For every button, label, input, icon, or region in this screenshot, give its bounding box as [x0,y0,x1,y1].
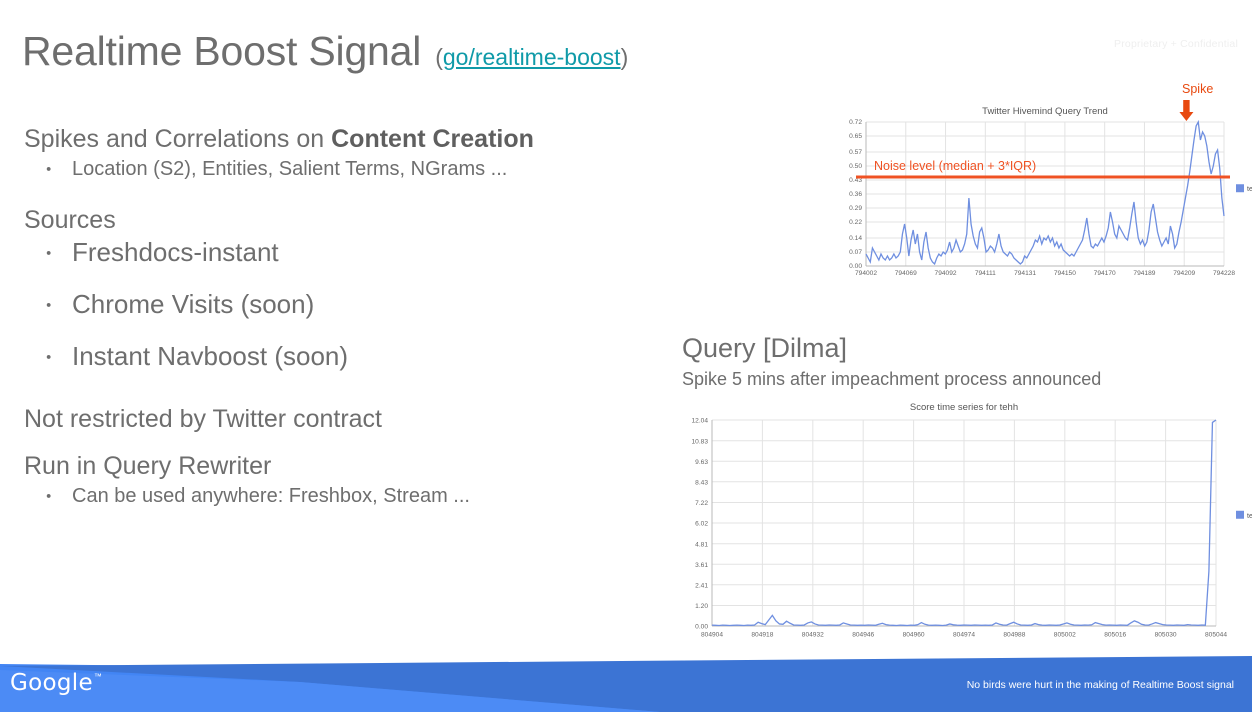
heading-spikes-prefix: Spikes and Correlations on [24,125,331,153]
heading-run-query-rewriter: Run in Query Rewriter [24,453,684,481]
y-axis-tick-label: 0.36 [849,191,862,198]
y-axis-tick-label: 0.65 [849,133,862,140]
y-axis-tick-label: 0.00 [695,624,708,631]
legend-swatch [1236,511,1244,519]
legend-label: teh [1247,186,1252,193]
spike-arrow-icon [1179,100,1193,121]
confidential-watermark: Proprietary + Confidential [1114,38,1238,50]
legend-label: te [1247,513,1252,520]
list-item: Instant Navboost (soon) [24,342,684,372]
y-axis-tick-label: 7.22 [695,500,708,507]
x-axis-tick-label: 804918 [751,632,773,639]
y-axis-tick-label: 8.43 [695,479,708,486]
slide: Proprietary + Confidential Realtime Boos… [0,0,1252,712]
x-axis-tick-label: 805030 [1155,632,1177,639]
chart-title: Twitter Hivemind Query Trend [982,106,1108,117]
list-item: Location (S2), Entities, Salient Terms, … [24,158,684,181]
y-axis-tick-label: 1.20 [695,603,708,610]
heading-spikes-bold: Content Creation [331,125,534,153]
y-axis-tick-label: 0.57 [849,149,862,156]
y-axis-tick-label: 6.02 [695,521,708,528]
chart-bottom-svg: Score time series for tehh0.001.202.413.… [676,394,1252,652]
paren-close: ) [621,44,629,70]
y-axis-tick-label: 9.63 [695,459,708,466]
y-axis-tick-label: 0.07 [849,249,862,256]
chart-title: Score time series for tehh [910,402,1018,413]
noise-level-label: Noise level (median + 3*IQR) [874,159,1036,173]
x-axis-tick-label: 794150 [1054,270,1076,277]
x-axis-tick-label: 794189 [1133,270,1155,277]
trademark-icon: ™ [94,672,102,681]
x-axis-tick-label: 805044 [1205,632,1227,639]
x-axis-tick-label: 805002 [1054,632,1076,639]
query-section-subtitle: Spike 5 mins after impeachment process a… [682,369,1101,390]
google-logo-text: Google [10,670,93,696]
y-axis-tick-label: 0.29 [849,205,862,212]
chart-twitter-hivemind-query-trend: Twitter Hivemind Query Trend0.000.070.14… [836,92,1252,288]
x-axis-tick-label: 794111 [975,270,996,277]
chart-top-svg: Twitter Hivemind Query Trend0.000.070.14… [836,92,1252,288]
x-axis-tick-label: 794170 [1094,270,1116,277]
bullet-list-content-creation: Location (S2), Entities, Salient Terms, … [24,158,684,181]
y-axis-tick-label: 2.41 [695,582,708,589]
x-axis-tick-label: 794069 [895,270,917,277]
data-series-line [866,122,1224,264]
x-axis-tick-label: 804988 [1003,632,1025,639]
list-item: Freshdocs-instant [24,238,684,268]
x-axis-tick-label: 794002 [855,270,877,277]
x-axis-tick-label: 794092 [935,270,957,277]
google-logo: Google ™ [10,670,102,696]
heading-spikes-correlations: Spikes and Correlations on Content Creat… [24,126,684,154]
heading-not-restricted: Not restricted by Twitter contract [24,406,684,434]
list-item: Chrome Visits (soon) [24,290,684,320]
x-axis-tick-label: 804946 [852,632,874,639]
title-link-group: (go/realtime-boost) [435,44,628,71]
y-axis-tick-label: 10.83 [691,438,708,445]
page-title: Realtime Boost Signal (go/realtime-boost… [22,28,628,75]
bullet-list-sources: Freshdocs-instant Chrome Visits (soon) I… [24,238,684,372]
chart-score-time-series: Score time series for tehh0.001.202.413.… [676,394,1252,652]
y-axis-tick-label: 0.22 [849,219,862,226]
y-axis-tick-label: 0.14 [849,235,862,242]
x-axis-tick-label: 794131 [1014,270,1036,277]
x-axis-tick-label: 794228 [1213,270,1235,277]
query-section-title: Query [Dilma] [682,333,847,364]
go-link[interactable]: go/realtime-boost [443,44,621,70]
footer-note: No birds were hurt in the making of Real… [967,679,1234,691]
x-axis-tick-label: 805016 [1104,632,1126,639]
x-axis-tick-label: 794209 [1173,270,1195,277]
heading-sources: Sources [24,207,684,235]
y-axis-tick-label: 0.00 [849,263,862,270]
slide-footer: Google ™ No birds were hurt in the makin… [0,656,1252,712]
y-axis-tick-label: 3.61 [695,562,708,569]
x-axis-tick-label: 804904 [701,632,723,639]
y-axis-tick-label: 0.50 [849,163,862,170]
page-title-text: Realtime Boost Signal [22,28,421,75]
list-item: Can be used anywhere: Freshbox, Stream .… [24,485,684,508]
x-axis-tick-label: 804960 [903,632,925,639]
paren-open: ( [435,44,443,70]
body-content: Spikes and Correlations on Content Creat… [24,126,684,508]
y-axis-tick-label: 0.72 [849,119,862,126]
y-axis-tick-label: 4.81 [695,541,708,548]
x-axis-tick-label: 804932 [802,632,824,639]
y-axis-tick-label: 12.04 [691,418,708,425]
legend-swatch [1236,184,1244,192]
bullet-list-query-rewriter: Can be used anywhere: Freshbox, Stream .… [24,485,684,508]
x-axis-tick-label: 804974 [953,632,975,639]
